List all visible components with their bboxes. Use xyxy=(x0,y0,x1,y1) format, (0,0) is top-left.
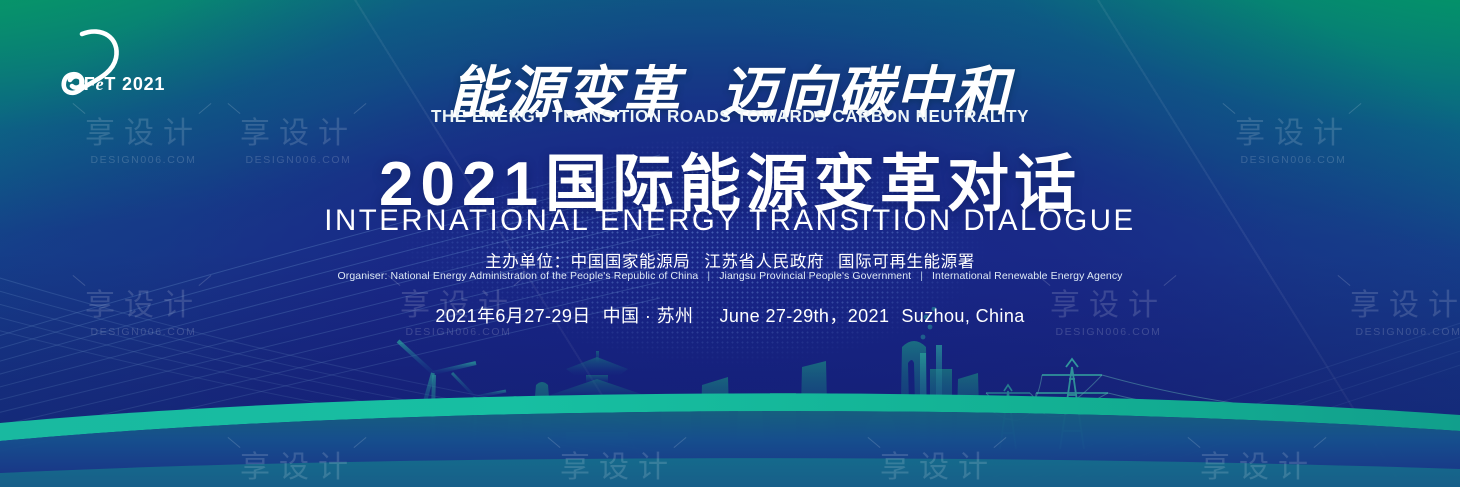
organiser-line-english: Organiser: National Energy Administratio… xyxy=(0,270,1460,282)
organiser-en-2: Jiangsu Provincial People's Government xyxy=(719,270,911,282)
page-title-english: INTERNATIONAL ENERGY TRANSITION DIALOGUE xyxy=(15,204,1446,238)
headline-english-subtitle: THE ENERGY TRANSITION ROADS TOWARDS CARB… xyxy=(22,106,1438,127)
organiser-divider-1: | xyxy=(698,270,719,282)
banner-text-content: 能源变革迈向碳中和 THE ENERGY TRANSITION ROADS TO… xyxy=(0,0,1460,487)
organiser-cn-2: 江苏省人民政府 xyxy=(704,253,824,271)
organiser-line-chinese: 主办单位：中国国家能源局江苏省人民政府国际可再生能源署 xyxy=(0,248,1460,272)
location-chinese: 中国 · 苏州 xyxy=(603,306,694,326)
organiser-cn-1: 中国国家能源局 xyxy=(571,253,691,271)
date-chinese: 2021年6月27-29日 xyxy=(435,306,590,326)
organiser-en-1: National Energy Administration of the Pe… xyxy=(391,270,699,282)
conference-banner: IFeT 2021 能源变革迈向碳中和 THE ENERGY TRANSITIO… xyxy=(0,0,1460,487)
organiser-divider-2: | xyxy=(911,270,932,282)
date-english: June 27-29th，2021 xyxy=(719,306,889,326)
organiser-label-cn: 主办单位： xyxy=(485,253,571,271)
organiser-label-en: Organiser: xyxy=(337,270,387,282)
location-english: Suzhou, China xyxy=(901,306,1024,326)
date-location-line: 2021年6月27-29日中国 · 苏州June 27-29th，2021Suz… xyxy=(0,302,1460,328)
organiser-en-3: International Renewable Energy Agency xyxy=(932,270,1123,282)
organiser-cn-3: 国际可再生能源署 xyxy=(838,253,975,271)
